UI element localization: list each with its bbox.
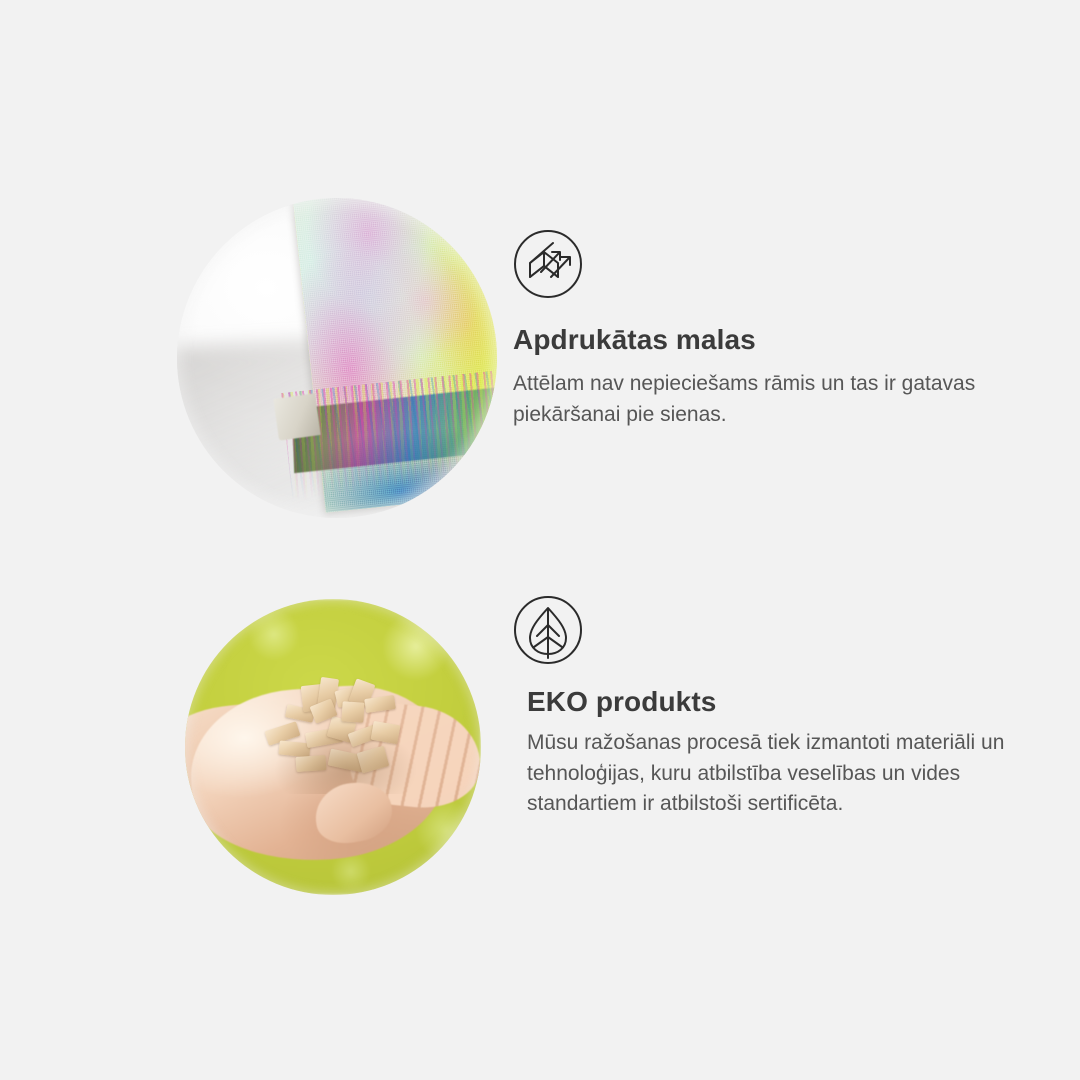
feature-description: Mūsu ražošanas procesā tiek izmantoti ma… bbox=[527, 728, 1005, 820]
leaf-icon bbox=[513, 595, 583, 665]
feature-title: Apdrukātas malas bbox=[513, 324, 756, 356]
feature-page: Apdrukātas malas Attēlam nav nepieciešam… bbox=[0, 0, 1080, 1080]
canvas-corner-photo bbox=[177, 198, 497, 518]
feature-description: Attēlam nav nepieciešams rāmis un tas ir… bbox=[513, 369, 999, 430]
feature-eco-product: EKO produkts Mūsu ražošanas procesā tiek… bbox=[0, 540, 1080, 1080]
wrapped-canvas-edge-icon bbox=[513, 229, 583, 299]
wood-chips-in-hands-photo bbox=[185, 599, 481, 895]
feature-printed-edges: Apdrukātas malas Attēlam nav nepieciešam… bbox=[0, 0, 1080, 540]
feature-title: EKO produkts bbox=[527, 686, 716, 718]
canvas-raw-edge bbox=[273, 394, 320, 441]
wood-chip-pile bbox=[256, 676, 422, 794]
